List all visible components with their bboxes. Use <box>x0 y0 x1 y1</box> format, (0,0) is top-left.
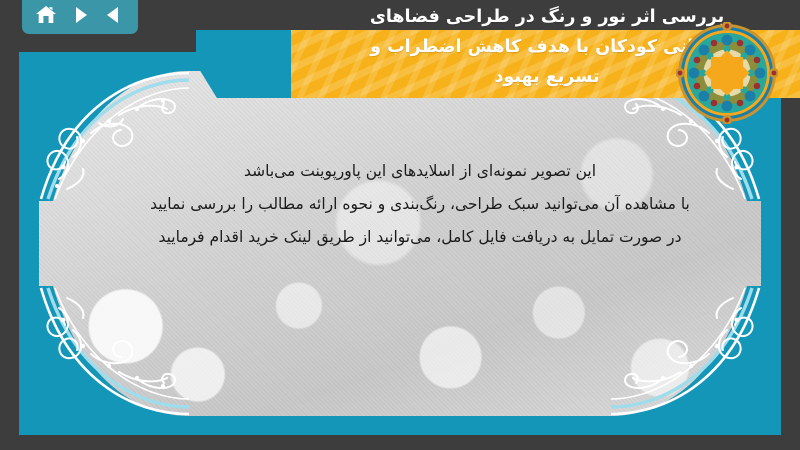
arabesque-corner-ornament-bottom-left <box>39 286 189 416</box>
body-line-2: با مشاهده آن می‌توانید سبک طراحی، رنگ‌بن… <box>79 188 761 221</box>
body-text-block: این تصویر نمونه‌ای از اسلایدهای این پاور… <box>39 155 761 254</box>
slide-canvas: بررسی اثر نور و رنگ در طراحی فضاهای درما… <box>0 0 800 450</box>
triangle-right-icon <box>70 5 90 25</box>
home-icon <box>35 5 57 25</box>
next-button[interactable] <box>66 2 94 28</box>
triangle-left-icon <box>104 5 124 25</box>
content-frame: این تصویر نمونه‌ای از اسلایدهای این پاور… <box>19 52 781 435</box>
content-background: این تصویر نمونه‌ای از اسلایدهای این پاور… <box>39 71 761 416</box>
arabesque-corner-ornament-bottom-right <box>611 286 761 416</box>
persian-medallion-ornament <box>676 22 778 124</box>
home-button[interactable] <box>32 2 60 28</box>
navigation-bar <box>22 0 138 34</box>
body-line-3: در صورت تمایل به دریافت فایل کامل، می‌تو… <box>79 221 761 254</box>
previous-button[interactable] <box>100 2 128 28</box>
body-line-1: این تصویر نمونه‌ای از اسلایدهای این پاور… <box>79 155 761 188</box>
